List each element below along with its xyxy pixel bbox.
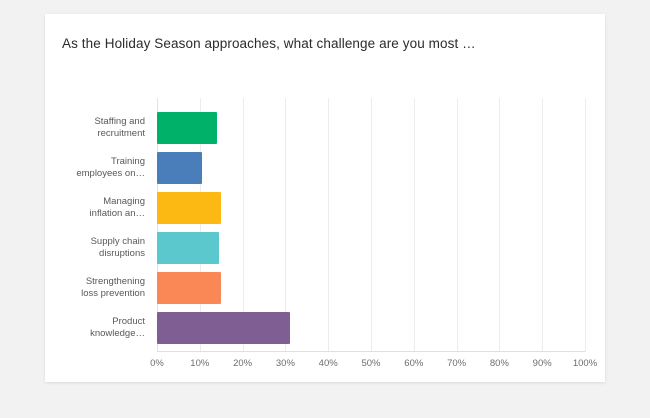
- category-label: Strengthening loss prevention: [81, 276, 145, 300]
- category-label: Product knowledge…: [90, 316, 145, 340]
- category-label: Training employees on…: [76, 156, 145, 180]
- x-tick-label: 20%: [233, 358, 252, 369]
- category-label: Supply chain disruptions: [91, 236, 145, 260]
- category-label-row: Managing inflation an…: [45, 192, 145, 224]
- category-label: Staffing and recruitment: [94, 116, 145, 140]
- x-axis-line: [157, 351, 585, 352]
- bar-row: [157, 192, 585, 224]
- bar-row: [157, 152, 585, 184]
- category-label-row: Strengthening loss prevention: [45, 272, 145, 304]
- x-tick-label: 70%: [447, 358, 466, 369]
- bar[interactable]: [157, 152, 202, 184]
- x-tick-label: 40%: [319, 358, 338, 369]
- bar-series: [157, 112, 585, 352]
- x-tick-label: 0%: [150, 358, 164, 369]
- category-label-row: Product knowledge…: [45, 312, 145, 344]
- category-label-row: Supply chain disruptions: [45, 232, 145, 264]
- bar[interactable]: [157, 272, 221, 304]
- x-tick-label: 30%: [276, 358, 295, 369]
- bar-row: [157, 112, 585, 144]
- plot-area: [157, 98, 585, 352]
- chart-title: As the Holiday Season approaches, what c…: [62, 36, 476, 51]
- category-label-row: Training employees on…: [45, 152, 145, 184]
- x-tick-label: 10%: [190, 358, 209, 369]
- x-tick-label: 90%: [533, 358, 552, 369]
- x-axis-tick-labels: 0%10%20%30%40%50%60%70%80%90%100%: [157, 358, 585, 374]
- category-label: Managing inflation an…: [90, 196, 145, 220]
- x-tick-label: 100%: [573, 358, 597, 369]
- y-axis-category-labels: Staffing and recruitmentTraining employe…: [45, 112, 145, 352]
- bar[interactable]: [157, 232, 219, 264]
- x-tick-label: 60%: [404, 358, 423, 369]
- category-label-row: Staffing and recruitment: [45, 112, 145, 144]
- chart-card: As the Holiday Season approaches, what c…: [45, 14, 605, 382]
- bar[interactable]: [157, 312, 290, 344]
- x-tick-label: 80%: [490, 358, 509, 369]
- gridline-100: [585, 98, 586, 352]
- bar[interactable]: [157, 192, 221, 224]
- bar-row: [157, 312, 585, 344]
- bar-row: [157, 232, 585, 264]
- bar[interactable]: [157, 112, 217, 144]
- bar-row: [157, 272, 585, 304]
- x-tick-label: 50%: [361, 358, 380, 369]
